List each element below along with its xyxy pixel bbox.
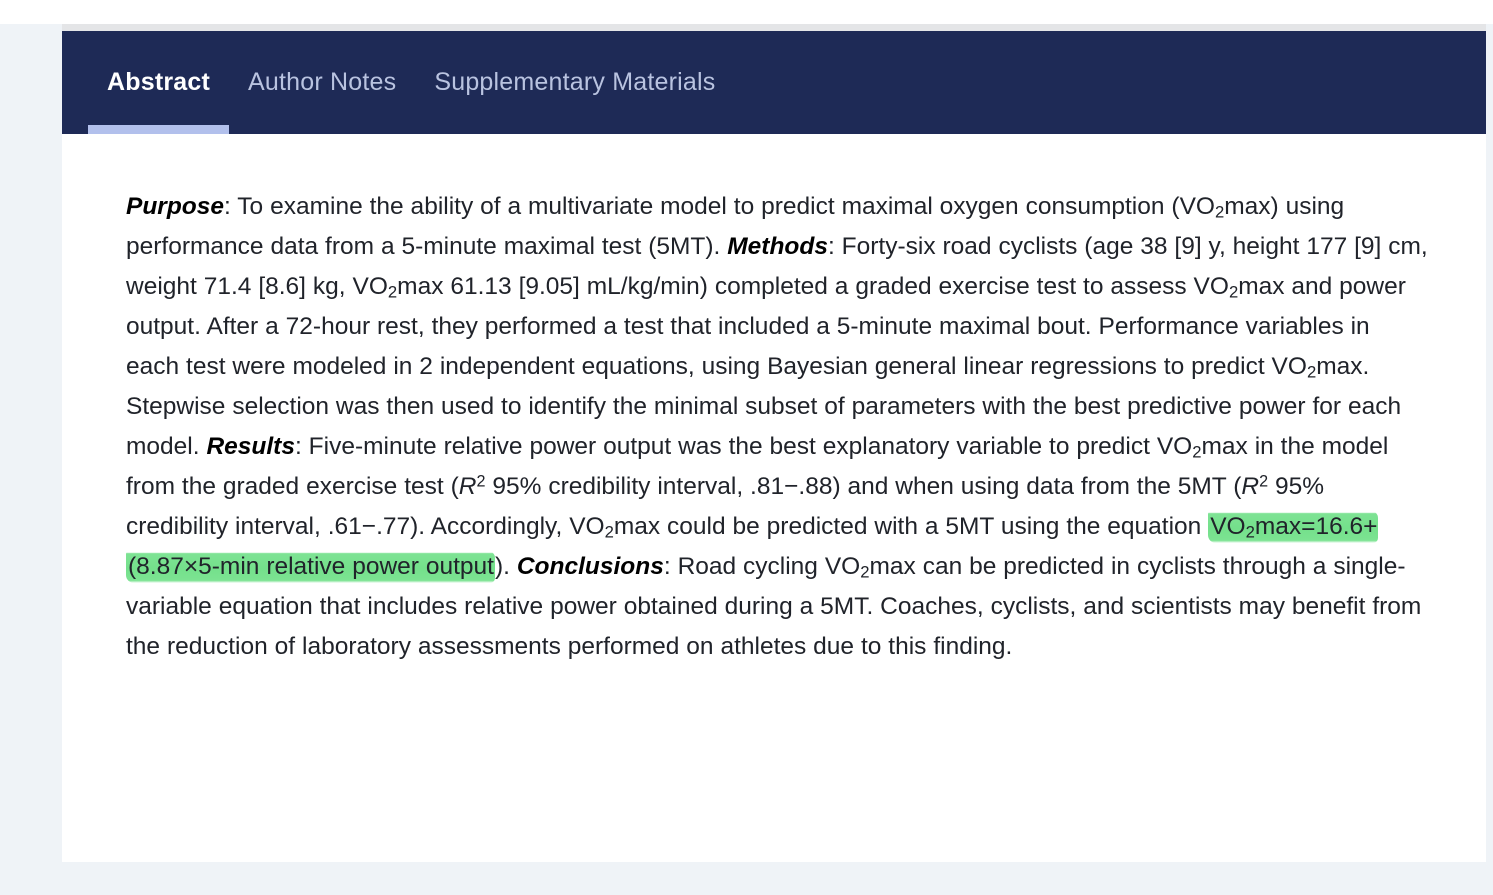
tab-abstract-label: Abstract: [107, 68, 210, 97]
methods-text-b: max 61.13 [9.05] mL/kg/min) completed a …: [397, 273, 1229, 300]
tab-author-notes-label: Author Notes: [248, 68, 396, 97]
results-label: Results: [206, 433, 295, 460]
r-squared-superscript-2: 2: [1259, 472, 1268, 490]
purpose-label: Purpose: [126, 193, 224, 220]
equation-subscript: 2: [1246, 522, 1255, 541]
tab-supplementary-materials-label: Supplementary Materials: [434, 68, 715, 97]
tab-abstract[interactable]: Abstract: [88, 31, 229, 134]
equation-close-paren: ).: [495, 553, 517, 580]
purpose-text-a: : To examine the ability of a multivaria…: [224, 193, 1215, 220]
r-squared-symbol-2: R: [1241, 473, 1259, 500]
results-subscript-1: 2: [1192, 442, 1201, 461]
abstract-card: Abstract Author Notes Supplementary Mate…: [62, 31, 1486, 862]
conclusions-text-a: : Road cycling VO: [664, 553, 860, 580]
results-text-a: : Five-minute relative power output was …: [295, 433, 1192, 460]
results-text-e: max could be predicted with a 5MT using …: [614, 513, 1208, 540]
article-page: Abstract Author Notes Supplementary Mate…: [0, 0, 1493, 895]
conclusions-label: Conclusions: [517, 553, 664, 580]
tab-supplementary-materials[interactable]: Supplementary Materials: [415, 31, 734, 134]
purpose-subscript-1: 2: [1215, 202, 1224, 221]
r-squared-symbol: R: [459, 473, 477, 500]
methods-subscript-1: 2: [388, 282, 397, 301]
top-white-strip: [0, 0, 1493, 24]
results-text-c: 95% credibility interval, .81−.88) and w…: [485, 473, 1241, 500]
tab-author-notes[interactable]: Author Notes: [229, 31, 415, 134]
methods-subscript-2: 2: [1229, 282, 1238, 301]
methods-label: Methods: [727, 233, 828, 260]
card-top-gray-band: [62, 24, 1486, 31]
results-subscript-2: 2: [605, 522, 614, 541]
tab-bar: Abstract Author Notes Supplementary Mate…: [62, 31, 1486, 134]
methods-subscript-3: 2: [1307, 362, 1316, 381]
abstract-paragraph: Purpose: To examine the ability of a mul…: [126, 187, 1428, 667]
abstract-body: Purpose: To examine the ability of a mul…: [62, 134, 1486, 667]
equation-part-a: VO: [1210, 513, 1245, 540]
conclusions-subscript-1: 2: [860, 562, 869, 581]
